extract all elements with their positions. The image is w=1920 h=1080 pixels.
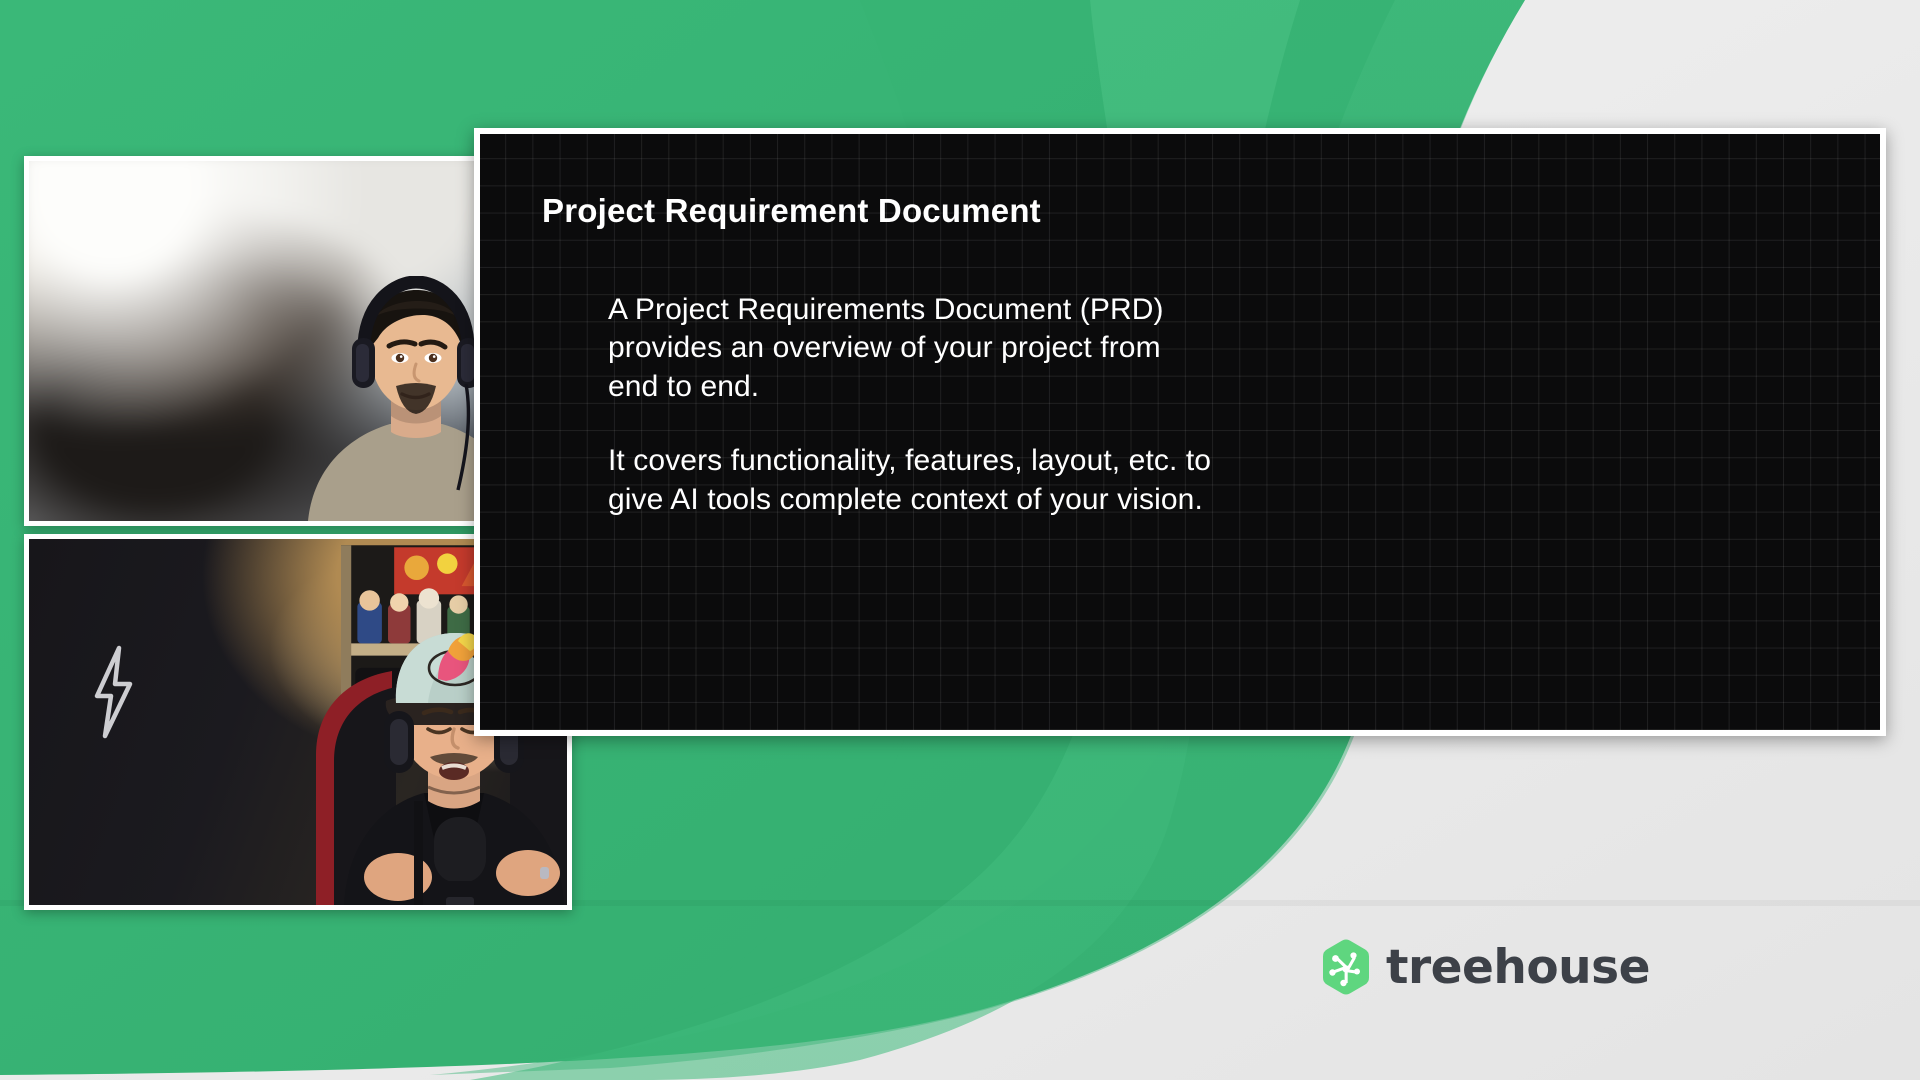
presentation-slide[interactable]: Project Requirement Document A Project R…: [474, 128, 1886, 736]
treehouse-logo: treehouse: [1320, 938, 1650, 996]
screen-stage: Project Requirement Document A Project R…: [0, 0, 1920, 1080]
slide-body-text: A Project Requirements Document (PRD) pr…: [608, 291, 1840, 519]
slide-title: Project Requirement Document: [542, 192, 1041, 230]
slide-paragraph-2: It covers functionality, features, layou…: [608, 442, 1840, 519]
treehouse-wordmark: treehouse: [1386, 940, 1650, 995]
slide-canvas: Project Requirement Document A Project R…: [480, 134, 1880, 730]
slide-paragraph-1: A Project Requirements Document (PRD) pr…: [608, 291, 1840, 406]
treehouse-hexagon-mark: [1320, 938, 1372, 996]
neon-lightning-bolt-icon: [87, 644, 139, 740]
